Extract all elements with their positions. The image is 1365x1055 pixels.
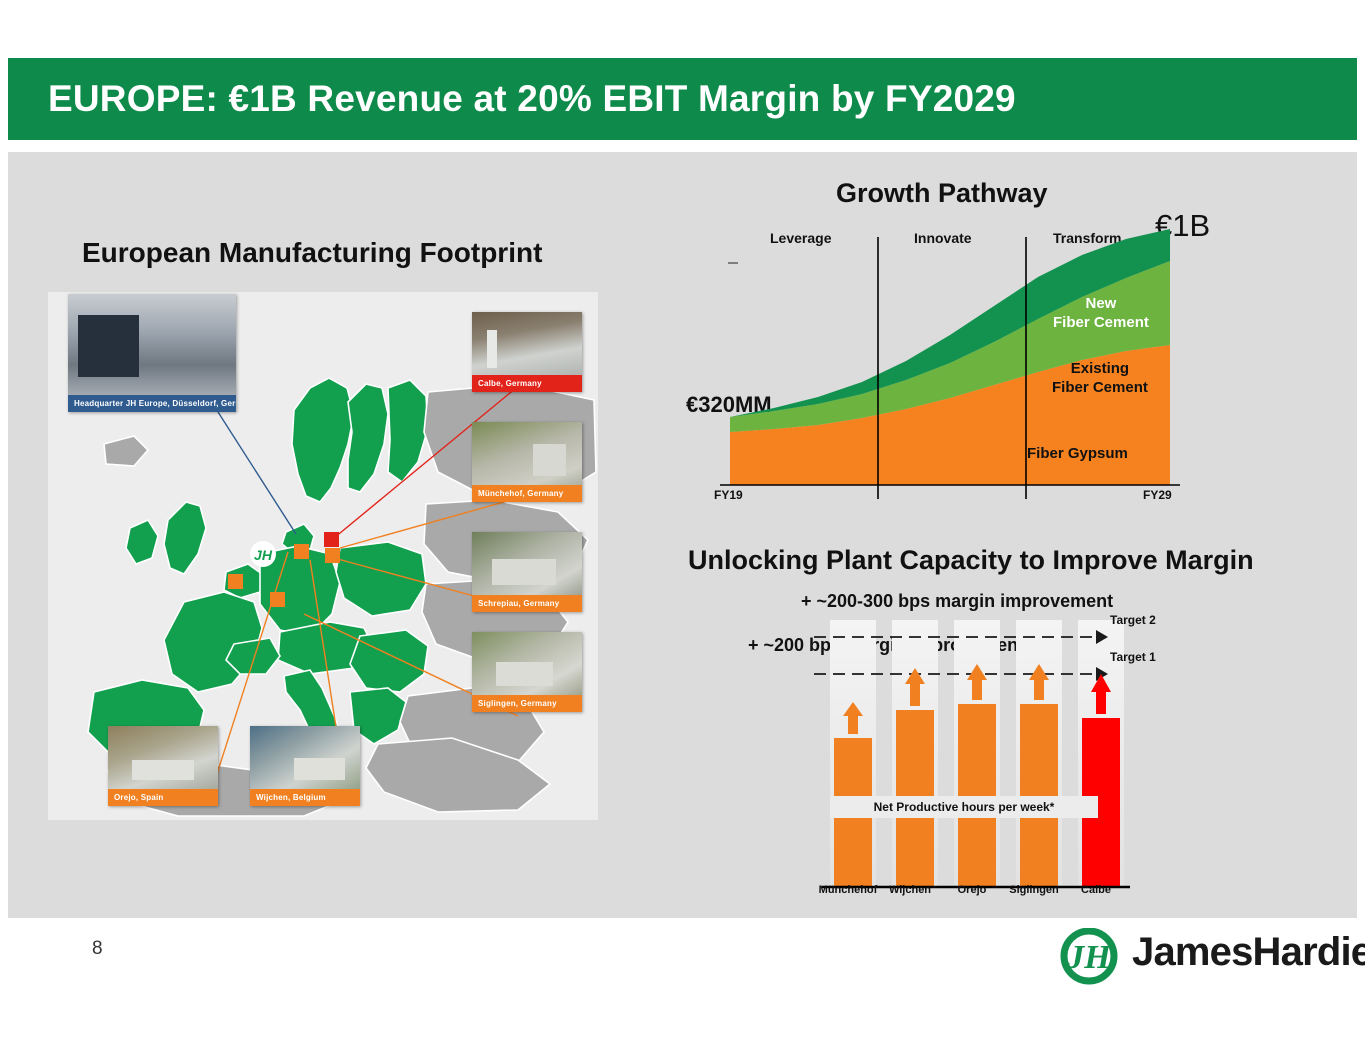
logo-wordmark: JamesHardie bbox=[1132, 930, 1365, 975]
margin-note-upper: + ~200-300 bps margin improvement bbox=[801, 591, 1113, 612]
series-label-line2: Fiber Cement bbox=[1053, 313, 1149, 332]
x-axis-label-end: FY29 bbox=[1143, 488, 1172, 502]
net-productive-hours-label: Net Productive hours per week* bbox=[830, 796, 1098, 818]
target-2-label: Target 2 bbox=[1110, 613, 1156, 627]
slide: EUROPE: €1B Revenue at 20% EBIT Margin b… bbox=[0, 0, 1365, 1055]
photo-caption: Calbe, Germany bbox=[472, 375, 582, 392]
capacity-bars bbox=[834, 704, 1120, 886]
capacity-chart-title: Unlocking Plant Capacity to Improve Marg… bbox=[688, 545, 1254, 576]
jameshardie-logo: JH JamesHardie ™ bbox=[1052, 928, 1352, 988]
photo-caption: Orejo, Spain bbox=[108, 789, 218, 806]
photo-caption: Münchehof, Germany bbox=[472, 485, 582, 502]
photo-schrepiau: Schrepiau, Germany bbox=[472, 532, 582, 612]
series-label-line1: Existing bbox=[1052, 359, 1148, 378]
photo-siglingen: Siglingen, Germany bbox=[472, 632, 582, 712]
series-label-line2: Fiber Cement bbox=[1052, 378, 1148, 397]
photo-orejo: Orejo, Spain bbox=[108, 726, 218, 806]
x-label-calbe: Calbe bbox=[1060, 884, 1132, 896]
series-label-line1: New bbox=[1053, 294, 1149, 313]
photo-caption: Schrepiau, Germany bbox=[472, 595, 582, 612]
x-axis-label-start: FY19 bbox=[714, 488, 743, 502]
bar-orejo bbox=[958, 704, 996, 886]
bar-siglingen bbox=[1020, 704, 1058, 886]
map-section-heading: European Manufacturing Footprint bbox=[82, 237, 542, 269]
photo-munchehof: Münchehof, Germany bbox=[472, 422, 582, 502]
photo-calbe: Calbe, Germany bbox=[472, 312, 582, 392]
photo-wijchen: Wijchen, Belgium bbox=[250, 726, 360, 806]
capacity-x-axis-labels: Münchehof Wijchen Orejo Siglingen Calbe bbox=[812, 884, 1112, 902]
growth-pathway-title: Growth Pathway bbox=[836, 178, 1048, 209]
target-1-label: Target 1 bbox=[1110, 650, 1156, 664]
series-label-new-fiber-cement: New Fiber Cement bbox=[1053, 294, 1149, 332]
jh-monogram-icon: JH bbox=[1052, 928, 1126, 988]
photo-headquarter: Headquarter JH Europe, Düsseldorf, Germa… bbox=[68, 294, 236, 412]
page-title: EUROPE: €1B Revenue at 20% EBIT Margin b… bbox=[48, 78, 1016, 120]
photo-caption: Wijchen, Belgium bbox=[250, 789, 360, 806]
slide-number: 8 bbox=[92, 938, 103, 960]
svg-text:JH: JH bbox=[1066, 939, 1112, 976]
series-label-existing-fiber-cement: Existing Fiber Cement bbox=[1052, 359, 1148, 397]
photo-caption: Siglingen, Germany bbox=[472, 695, 582, 712]
svg-text:JH: JH bbox=[254, 547, 273, 563]
slide-title-bar: EUROPE: €1B Revenue at 20% EBIT Margin b… bbox=[8, 58, 1357, 140]
series-label-fiber-gypsum: Fiber Gypsum bbox=[1027, 444, 1128, 463]
photo-caption: Headquarter JH Europe, Düsseldorf, Germa… bbox=[68, 395, 236, 412]
hq-badge: JH bbox=[250, 541, 276, 567]
